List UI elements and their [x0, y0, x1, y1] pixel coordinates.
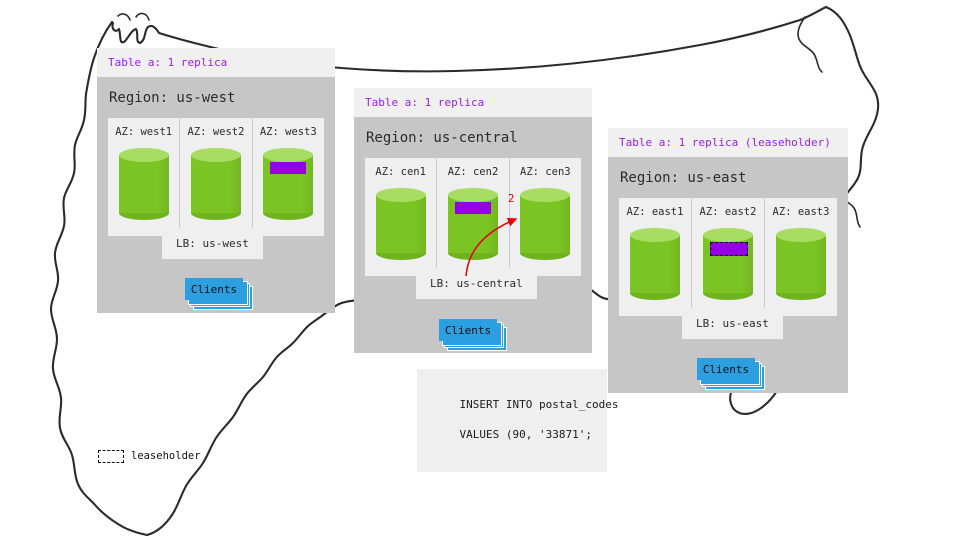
- sql-statement-box: INSERT INTO postal_codes VALUES (90, '33…: [417, 369, 607, 472]
- az-cell-east1[interactable]: AZ: east1: [619, 198, 691, 316]
- az-label-cen1: AZ: cen1: [375, 167, 426, 178]
- range-marker-leaseholder-east2: [710, 242, 748, 256]
- az-row-us-west: AZ: west1 AZ: west2 AZ: west3: [108, 118, 324, 236]
- clients-label-us-east: Clients: [697, 358, 755, 380]
- az-label-west3: AZ: west3: [260, 127, 317, 138]
- az-label-east2: AZ: east2: [700, 207, 757, 218]
- clients-stack-us-east[interactable]: Clients: [697, 358, 769, 392]
- legend-leaseholder: leaseholder: [98, 450, 201, 463]
- replica-cylinder-east3[interactable]: [776, 228, 826, 300]
- legend-label: leaseholder: [131, 451, 201, 462]
- az-label-cen3: AZ: cen3: [520, 167, 571, 178]
- clients-label-us-central: Clients: [439, 319, 497, 341]
- sql-line-2: VALUES (90, '33871';: [460, 428, 592, 441]
- az-cell-cen1[interactable]: AZ: cen1: [365, 158, 436, 276]
- az-label-west1: AZ: west1: [115, 127, 172, 138]
- region-title-us-west: Table a: 1 replica: [97, 48, 335, 77]
- load-balancer-us-central[interactable]: LB: us-central: [416, 268, 537, 299]
- replica-cylinder-east1[interactable]: [630, 228, 680, 300]
- az-label-east3: AZ: east3: [773, 207, 830, 218]
- region-name-us-central: Region: us-central: [354, 117, 592, 158]
- az-cell-cen3[interactable]: AZ: cen3: [509, 158, 581, 276]
- replica-cylinder-west3[interactable]: [263, 148, 313, 220]
- az-label-cen2: AZ: cen2: [448, 167, 499, 178]
- az-cell-east3[interactable]: AZ: east3: [764, 198, 837, 316]
- replica-cylinder-west2[interactable]: [191, 148, 241, 220]
- az-cell-west2[interactable]: AZ: west2: [179, 118, 251, 236]
- region-name-us-east: Region: us-east: [608, 157, 848, 198]
- az-label-west2: AZ: west2: [188, 127, 245, 138]
- range-marker-west3: [270, 162, 306, 174]
- clients-label-us-west: Clients: [185, 278, 243, 300]
- replica-cylinder-cen1[interactable]: [376, 188, 426, 260]
- az-row-us-east: AZ: east1 AZ: east2 AZ: east3: [619, 198, 837, 316]
- az-row-us-central: AZ: cen1 AZ: cen2 AZ: cen3: [365, 158, 581, 276]
- dashed-rect-icon: [98, 450, 124, 463]
- az-cell-west3[interactable]: AZ: west3: [252, 118, 324, 236]
- clients-stack-us-west[interactable]: Clients: [185, 278, 257, 312]
- az-cell-east2[interactable]: AZ: east2: [691, 198, 764, 316]
- replica-cylinder-east2[interactable]: [703, 228, 753, 300]
- region-title-us-east: Table a: 1 replica (leaseholder): [608, 128, 848, 157]
- region-panel-us-east: Table a: 1 replica (leaseholder) Region:…: [608, 128, 848, 393]
- load-balancer-us-east[interactable]: LB: us-east: [682, 308, 783, 339]
- replica-cylinder-cen2[interactable]: [448, 188, 498, 260]
- region-panel-us-central: Table a: 1 replica Region: us-central AZ…: [354, 88, 592, 353]
- replica-cylinder-west1[interactable]: [119, 148, 169, 220]
- az-cell-cen2[interactable]: AZ: cen2: [436, 158, 508, 276]
- clients-stack-us-central[interactable]: Clients: [439, 319, 511, 353]
- sql-line-1: INSERT INTO postal_codes: [460, 398, 619, 411]
- replica-cylinder-cen3[interactable]: [520, 188, 570, 260]
- load-balancer-us-west[interactable]: LB: us-west: [162, 228, 263, 259]
- region-panel-us-west: Table a: 1 replica Region: us-west AZ: w…: [97, 48, 335, 313]
- az-label-east1: AZ: east1: [627, 207, 684, 218]
- range-marker-cen2: [455, 202, 491, 214]
- az-cell-west1[interactable]: AZ: west1: [108, 118, 179, 236]
- region-name-us-west: Region: us-west: [97, 77, 335, 118]
- diagram-canvas: Table a: 1 replica Region: us-west AZ: w…: [0, 0, 960, 540]
- arrow-step-label-2: 2: [508, 194, 514, 205]
- region-title-us-central: Table a: 1 replica: [354, 88, 592, 117]
